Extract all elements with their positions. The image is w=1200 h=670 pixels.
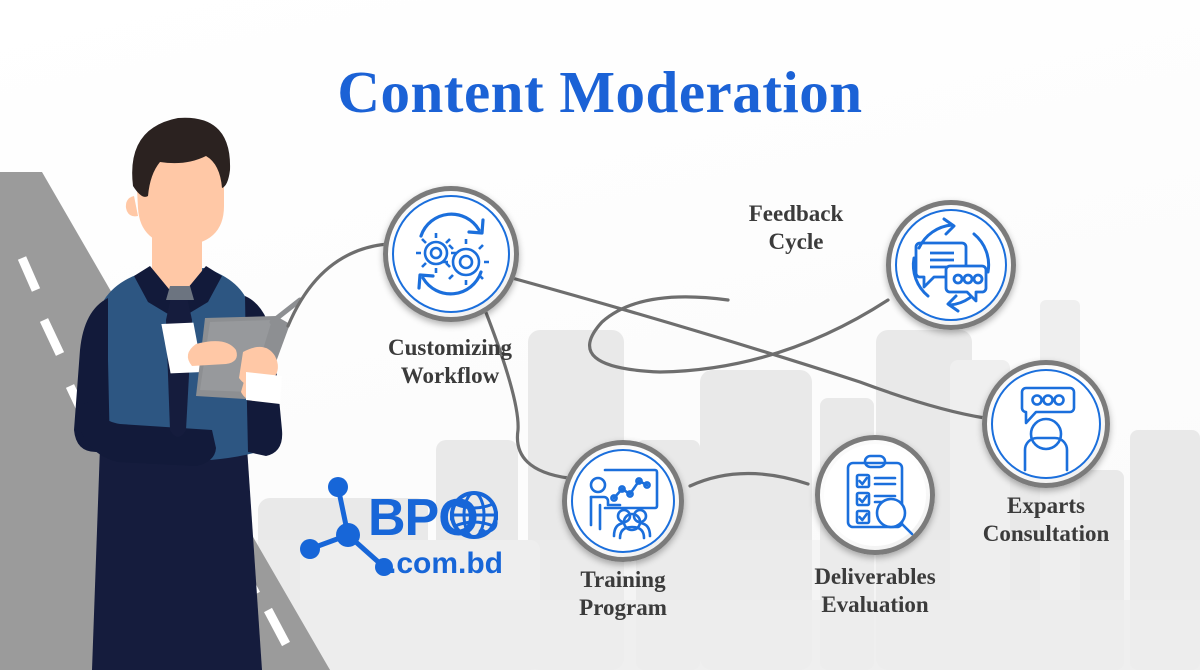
person-speech-bubble-icon [982, 360, 1110, 488]
gears-cycle-icon [383, 186, 519, 322]
presentation-audience-icon [562, 440, 684, 562]
bpo-logo[interactable]: BPO .com.bd [300, 473, 515, 578]
chat-bubbles-cycle-icon [886, 200, 1016, 330]
infographic-canvas: Content Moderation [0, 0, 1200, 670]
node-label: Feedback Cycle [696, 200, 896, 256]
logo-domain: .com.bd [388, 547, 503, 578]
node-label: Exparts Consultation [894, 492, 1198, 548]
icon-bubble[interactable] [982, 360, 1110, 488]
node-label: Deliverables Evaluation [723, 563, 1027, 619]
node-label: Customizing Workflow [300, 334, 600, 390]
icon-bubble[interactable] [886, 200, 1016, 330]
icon-bubble[interactable] [383, 186, 519, 322]
page-title: Content Moderation [0, 58, 1200, 127]
icon-bubble[interactable] [562, 440, 684, 562]
